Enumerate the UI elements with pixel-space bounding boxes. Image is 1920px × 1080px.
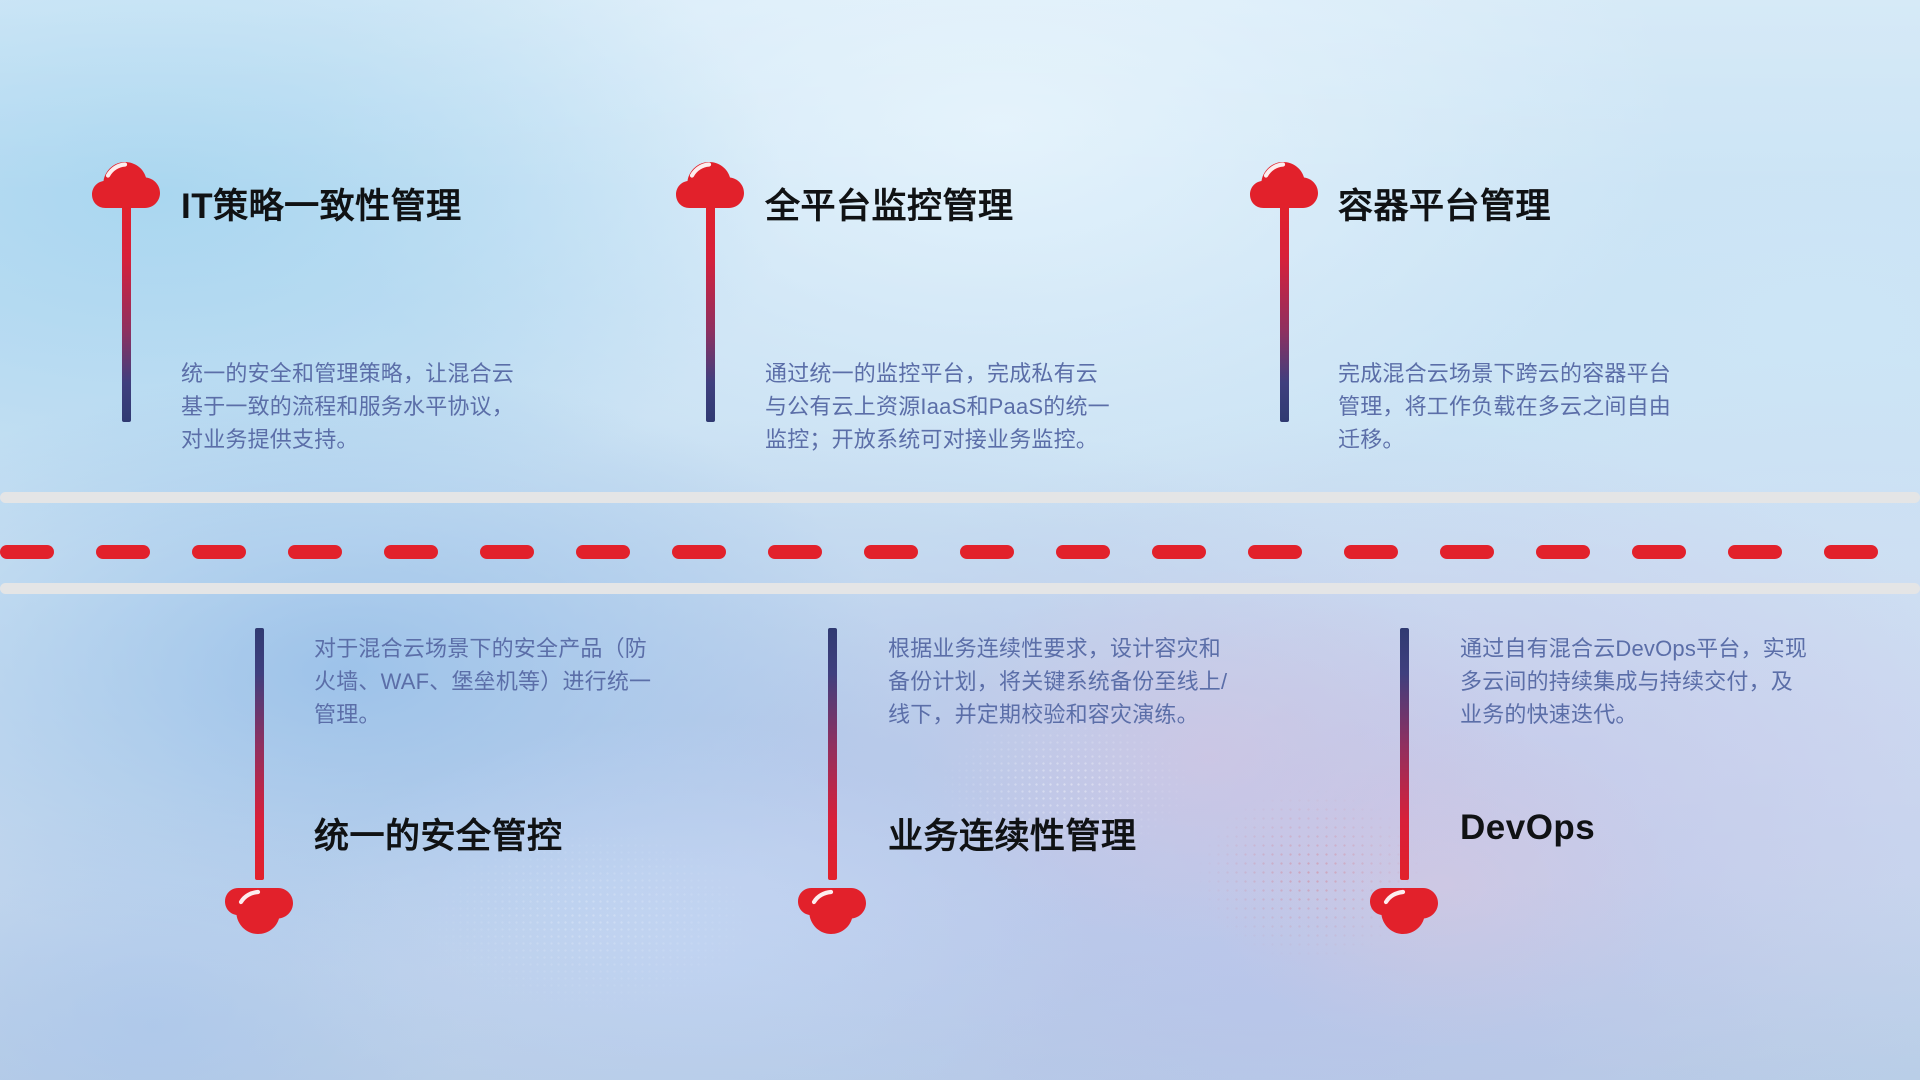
card-title: 统一的安全管控 bbox=[314, 808, 563, 859]
dash-segment bbox=[1728, 545, 1782, 559]
dash-segment bbox=[288, 545, 342, 559]
card-title: IT策略一致性管理 bbox=[181, 178, 462, 229]
dash-segment bbox=[960, 545, 1014, 559]
divider-line-top bbox=[0, 492, 1920, 503]
card-title: 全平台监控管理 bbox=[765, 178, 1014, 229]
dash-segment bbox=[1248, 545, 1302, 559]
dash-segment bbox=[1536, 545, 1590, 559]
cloud-icon bbox=[676, 158, 744, 208]
dash-segment bbox=[672, 545, 726, 559]
dash-segment bbox=[480, 545, 534, 559]
dash-segment bbox=[1632, 545, 1686, 559]
dash-segment bbox=[0, 545, 54, 559]
card-title: DevOps bbox=[1460, 808, 1595, 848]
connector-stem bbox=[828, 628, 837, 880]
dash-segment bbox=[768, 545, 822, 559]
dashed-separator bbox=[0, 545, 1920, 559]
card-description: 通过自有混合云DevOps平台，实现多云间的持续集成与持续交付，及业务的快速迭代… bbox=[1460, 632, 1810, 731]
dash-segment bbox=[1440, 545, 1494, 559]
cloud-icon bbox=[1370, 888, 1438, 938]
connector-stem bbox=[1280, 204, 1289, 422]
cloud-icon bbox=[1250, 158, 1318, 208]
dash-segment bbox=[1056, 545, 1110, 559]
cloud-icon bbox=[225, 888, 293, 938]
connector-stem bbox=[255, 628, 264, 880]
card-description: 完成混合云场景下跨云的容器平台管理，将工作负载在多云之间自由迁移。 bbox=[1338, 357, 1688, 456]
divider-line-bottom bbox=[0, 583, 1920, 594]
dash-segment bbox=[576, 545, 630, 559]
cloud-icon bbox=[798, 888, 866, 938]
dash-segment bbox=[192, 545, 246, 559]
card-description: 对于混合云场景下的安全产品（防火墙、WAF、堡垒机等）进行统一管理。 bbox=[314, 632, 664, 731]
dash-segment bbox=[1344, 545, 1398, 559]
card-title: 业务连续性管理 bbox=[888, 808, 1137, 859]
connector-stem bbox=[1400, 628, 1409, 880]
dash-segment bbox=[1824, 545, 1878, 559]
connector-stem bbox=[706, 204, 715, 422]
connector-stem bbox=[122, 204, 131, 422]
cloud-icon bbox=[92, 158, 160, 208]
card-title: 容器平台管理 bbox=[1338, 178, 1551, 229]
dash-segment bbox=[96, 545, 150, 559]
card-description: 根据业务连续性要求，设计容灾和备份计划，将关键系统备份至线上/线下，并定期校验和… bbox=[888, 632, 1238, 731]
dash-segment bbox=[384, 545, 438, 559]
card-description: 通过统一的监控平台，完成私有云与公有云上资源IaaS和PaaS的统一监控；开放系… bbox=[765, 357, 1115, 456]
dash-segment bbox=[864, 545, 918, 559]
card-description: 统一的安全和管理策略，让混合云基于一致的流程和服务水平协议，对业务提供支持。 bbox=[181, 357, 531, 456]
dash-segment bbox=[1152, 545, 1206, 559]
